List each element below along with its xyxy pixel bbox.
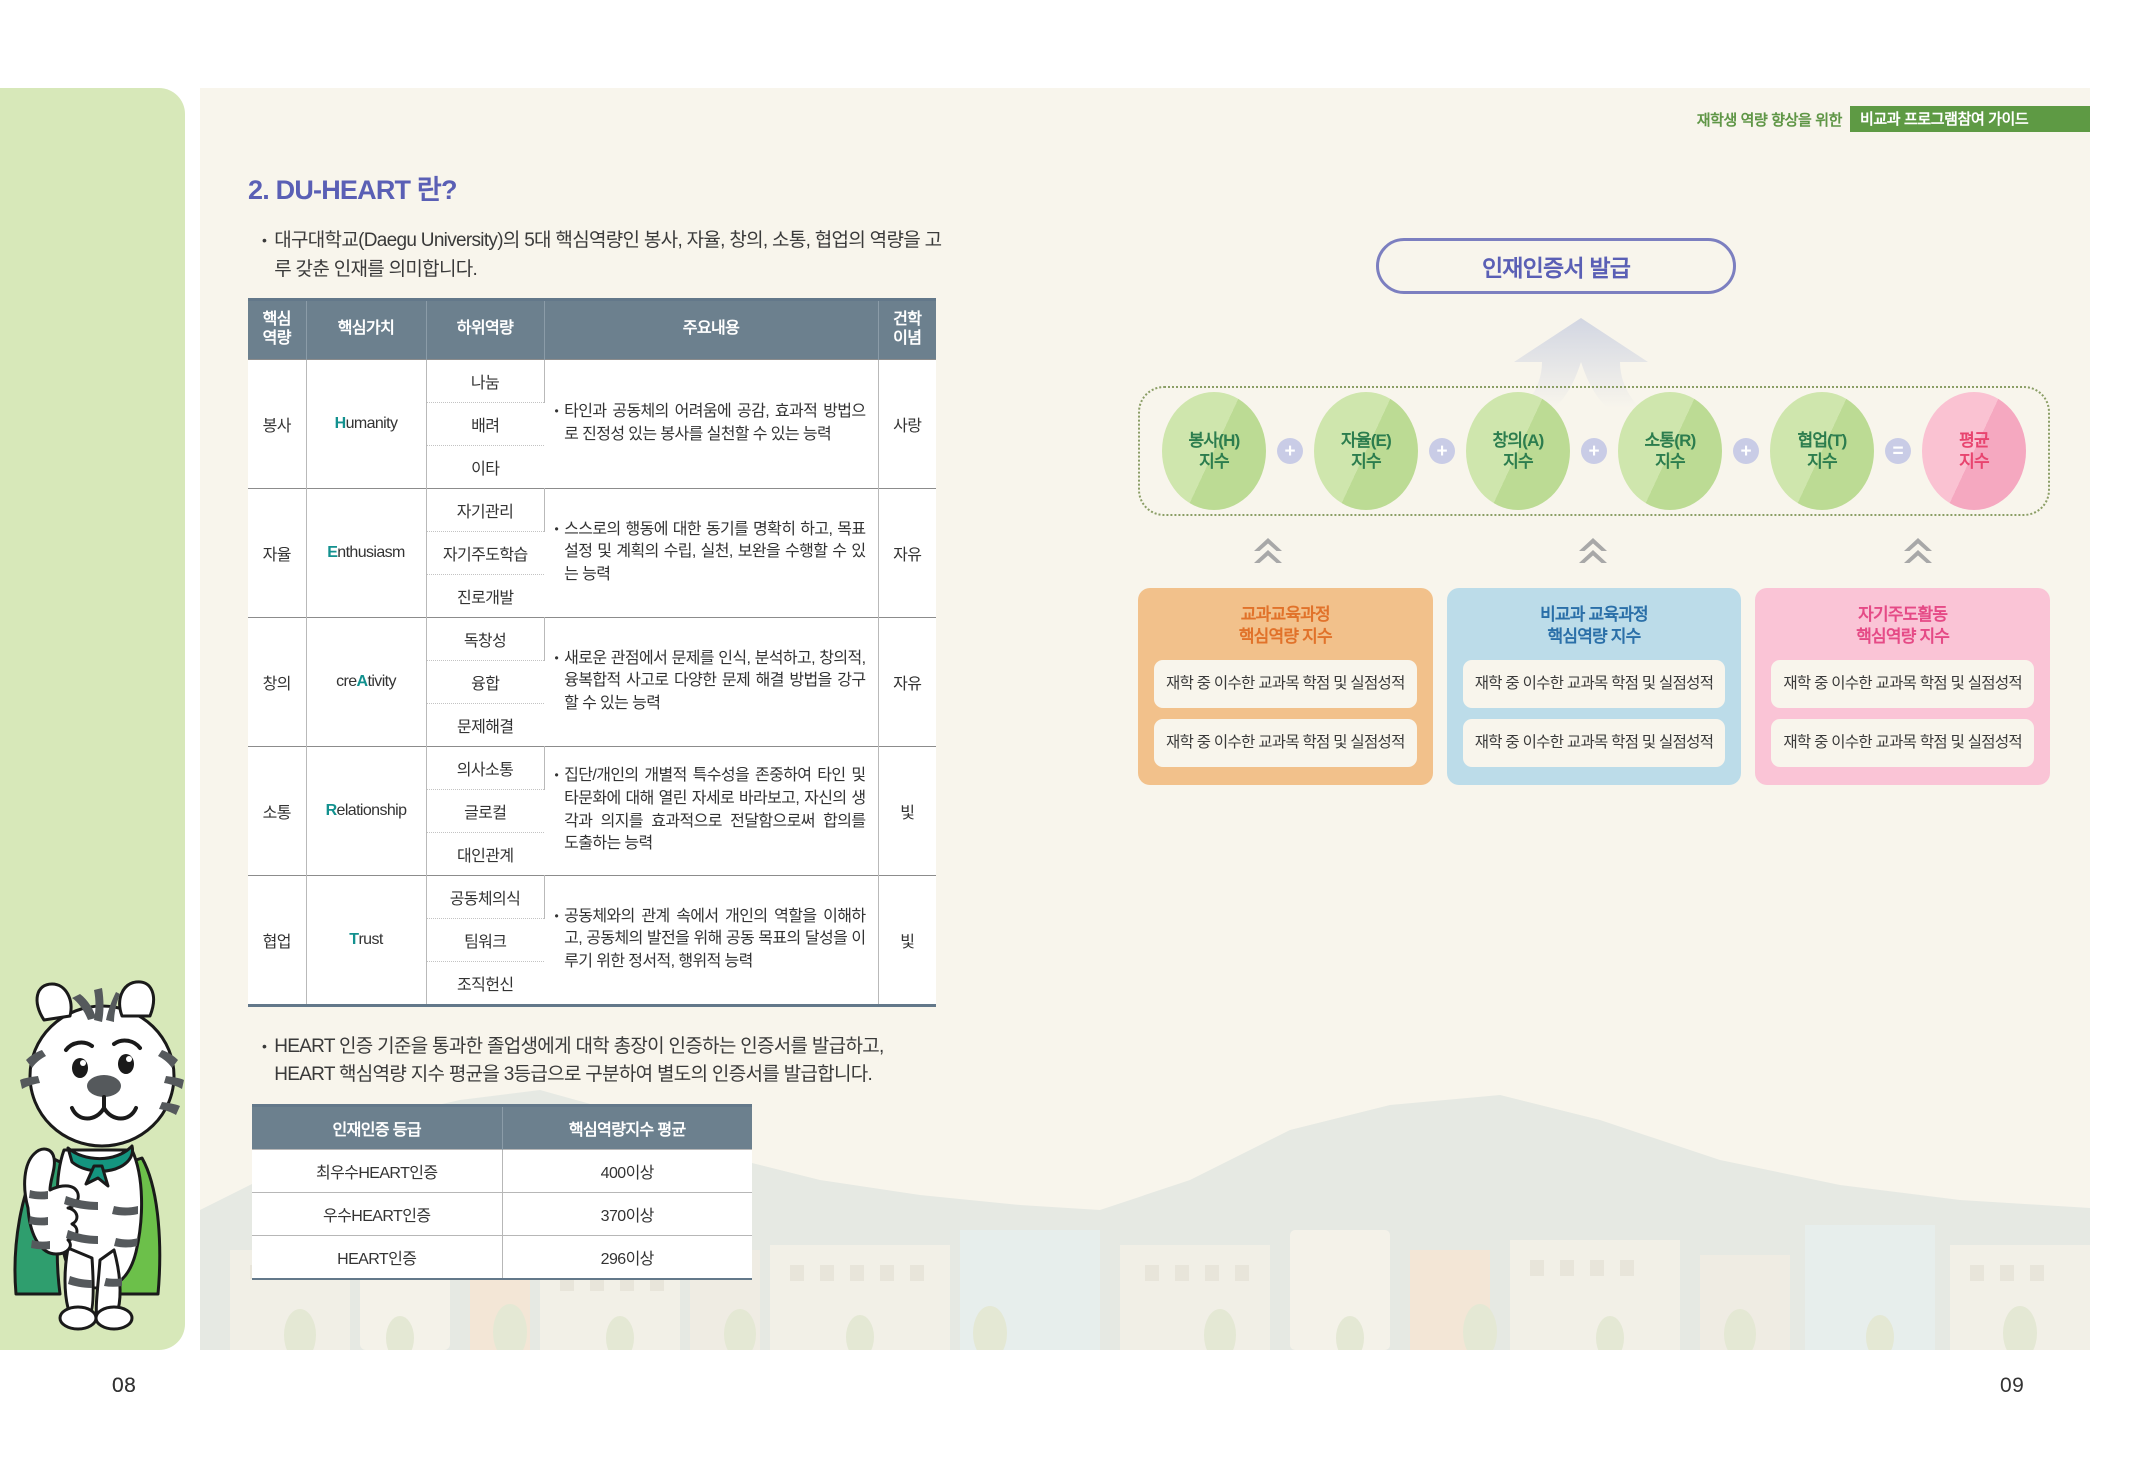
index-circle-line2: 지수 [1503, 451, 1533, 472]
th-core-competency-line2: 역량 [263, 330, 291, 347]
cell-core-value: creAtivity [306, 617, 426, 746]
cell-sub-competency: 공동체의식 [426, 875, 544, 918]
th-core-competency-line1: 핵심 [263, 311, 291, 328]
intro-bullet: • 대구대학교(Daegu University)의 5대 핵심역량인 봉사, … [248, 227, 948, 284]
bullet-dot-icon: • [555, 906, 559, 974]
source-index-boxes-row: 교과교육과정핵심역량 지수재학 중 이수한 교과목 학점 및 실점성적재학 중 … [1138, 588, 2050, 785]
cell-founding-ideal: 빛 [878, 875, 936, 1005]
th-core-competency: 핵심 역량 [248, 300, 306, 360]
source-index-card: 재학 중 이수한 교과목 학점 및 실점성적 [1463, 660, 1726, 708]
certificate-issuance-badge: 인재인증서 발급 [1376, 238, 1736, 294]
page-number-left-label: 08 [112, 1374, 136, 1398]
cell-sub-competency: 조직헌신 [426, 961, 544, 1005]
source-index-card: 재학 중 이수한 교과목 학점 및 실점성적 [1154, 719, 1417, 767]
plus-operator-icon: + [1429, 438, 1455, 464]
bullet-dot-icon: • [262, 227, 266, 284]
cell-founding-ideal: 빛 [878, 746, 936, 875]
cell-sub-competency: 독창성 [426, 617, 544, 660]
table-row: HEART인증296이상 [252, 1235, 752, 1279]
cell-grade: 최우수HEART인증 [252, 1149, 502, 1192]
double-chevron-up-icon [1251, 536, 1285, 566]
index-circle: 소통(R)지수 [1618, 392, 1722, 510]
th-core-value: 핵심가치 [306, 300, 426, 360]
th-founding-ideal: 건학 이념 [878, 300, 936, 360]
right-page: 재학생 역량 향상을 위한 비교과 프로그램참여 가이드 인재인증서 발급 봉사 [1100, 88, 2090, 1350]
table-row: 우수HEART인증370이상 [252, 1192, 752, 1235]
cell-sub-competency: 대인관계 [426, 832, 544, 875]
index-circle: 봉사(H)지수 [1162, 392, 1266, 510]
left-page-content: 2. DU-HEART 란? • 대구대학교(Daegu University)… [248, 168, 948, 1280]
cell-sub-competency: 배려 [426, 402, 544, 445]
header-banner-prefix: 재학생 역량 향상을 위한 [1697, 109, 1850, 130]
table-row: 봉사Humanity나눔•타인과 공동체의 어려움에 공감, 효과적 방법으로 … [248, 359, 936, 402]
double-chevron-up-icon [1576, 536, 1610, 566]
source-index-box-title: 비교과 교육과정핵심역량 지수 [1540, 604, 1648, 648]
source-index-box-title-line2: 핵심역량 지수 [1548, 627, 1641, 646]
th-grade: 인재인증 등급 [252, 1105, 502, 1149]
cell-core-competency: 자율 [248, 488, 306, 617]
table-row: 최우수HEART인증400이상 [252, 1149, 752, 1192]
index-circle-line1: 평균 [1959, 430, 1989, 451]
cell-grade: HEART인증 [252, 1235, 502, 1279]
th-founding-ideal-line2: 이념 [893, 330, 921, 347]
main-content-text: 타인과 공동체의 어려움에 공감, 효과적 방법으로 진정성 있는 봉사를 실천… [564, 401, 865, 446]
cell-core-competency: 창의 [248, 617, 306, 746]
core-value-initial: E [327, 544, 337, 561]
page-title: 2. DU-HEART 란? [248, 168, 948, 207]
index-circle-line1: 협업(T) [1798, 430, 1847, 451]
source-index-box: 비교과 교육과정핵심역량 지수재학 중 이수한 교과목 학점 및 실점성적재학 … [1447, 588, 1742, 785]
cert-bullet: • HEART 인증 기준을 통과한 졸업생에게 대학 총장이 인증하는 인증서… [248, 1033, 948, 1090]
index-circle-line1: 소통(R) [1645, 430, 1696, 451]
chevron-arrows-row [1138, 536, 2050, 580]
source-index-box: 교과교육과정핵심역량 지수재학 중 이수한 교과목 학점 및 실점성적재학 중 … [1138, 588, 1433, 785]
plus-operator-icon: + [1581, 438, 1607, 464]
source-index-card: 재학 중 이수한 교과목 학점 및 실점성적 [1771, 660, 2034, 708]
th-average: 핵심역량지수 평균 [502, 1105, 752, 1149]
cell-core-competency: 소통 [248, 746, 306, 875]
bullet-dot-icon: • [262, 1033, 266, 1090]
source-index-card: 재학 중 이수한 교과목 학점 및 실점성적 [1463, 719, 1726, 767]
table-row: 소통Relationship의사소통•집단/개인의 개별적 특수성을 존중하여 … [248, 746, 936, 789]
cell-main-content: •집단/개인의 개별적 특수성을 존중하여 타인 및 타문화에 대해 열린 자세… [544, 746, 878, 875]
index-circle-line2: 지수 [1199, 451, 1229, 472]
main-content-text: 새로운 관점에서 문제를 인식, 분석하고, 창의적, 융복합적 사고로 다양한… [564, 648, 865, 716]
bullet-dot-icon: • [555, 519, 559, 587]
grade-table-body: 최우수HEART인증400이상우수HEART인증370이상HEART인증296이… [252, 1149, 752, 1279]
cell-core-value: Trust [306, 875, 426, 1005]
cell-founding-ideal: 사랑 [878, 359, 936, 488]
header-banner: 재학생 역량 향상을 위한 비교과 프로그램참여 가이드 [1697, 106, 2090, 132]
index-circle: 평균지수 [1922, 392, 2026, 510]
cell-sub-competency: 의사소통 [426, 746, 544, 789]
core-value-initial: A [357, 673, 368, 690]
source-index-box-title: 자기주도활동핵심역량 지수 [1856, 604, 1949, 648]
core-value-initial: T [349, 931, 358, 948]
cell-core-competency: 봉사 [248, 359, 306, 488]
plus-operator-icon: + [1277, 438, 1303, 464]
cell-core-competency: 협업 [248, 875, 306, 1005]
bullet-dot-icon: • [555, 401, 559, 446]
grade-table-header-row: 인재인증 등급 핵심역량지수 평균 [252, 1105, 752, 1149]
table-row: 창의creAtivity독창성•새로운 관점에서 문제를 인식, 분석하고, 창… [248, 617, 936, 660]
index-circle-line1: 창의(A) [1493, 430, 1544, 451]
cell-sub-competency: 자기관리 [426, 488, 544, 531]
cell-average: 400이상 [502, 1149, 752, 1192]
bullet-dot-icon: • [555, 765, 559, 856]
competency-table-header-row: 핵심 역량 핵심가치 하위역량 주요내용 건학 이념 [248, 300, 936, 360]
cert-bullet-text: HEART 인증 기준을 통과한 졸업생에게 대학 총장이 인증하는 인증서를 … [274, 1033, 948, 1090]
source-index-box-title-line1: 비교과 교육과정 [1540, 605, 1648, 624]
th-main-content: 주요내용 [544, 300, 878, 360]
index-circle-line2: 지수 [1655, 451, 1685, 472]
competency-table-body: 봉사Humanity나눔•타인과 공동체의 어려움에 공감, 효과적 방법으로 … [248, 359, 936, 1005]
intro-bullet-text: 대구대학교(Daegu University)의 5대 핵심역량인 봉사, 자율… [274, 227, 948, 284]
core-value-initial: H [335, 415, 346, 432]
cell-sub-competency: 진로개발 [426, 574, 544, 617]
cell-sub-competency: 자기주도학습 [426, 531, 544, 574]
cell-core-value: Humanity [306, 359, 426, 488]
cell-sub-competency: 나눔 [426, 359, 544, 402]
source-index-box: 자기주도활동핵심역량 지수재학 중 이수한 교과목 학점 및 실점성적재학 중 … [1755, 588, 2050, 785]
header-banner-badge: 비교과 프로그램참여 가이드 [1850, 106, 2090, 132]
source-index-box-title-line1: 교과교육과정 [1241, 605, 1330, 624]
left-page: 2. DU-HEART 란? • 대구대학교(Daegu University)… [200, 88, 1100, 1350]
main-content-text: 집단/개인의 개별적 특수성을 존중하여 타인 및 타문화에 대해 열린 자세로… [564, 765, 865, 856]
source-index-box-title-line2: 핵심역량 지수 [1239, 627, 1332, 646]
cell-main-content: •타인과 공동체의 어려움에 공감, 효과적 방법으로 진정성 있는 봉사를 실… [544, 359, 878, 488]
competency-table: 핵심 역량 핵심가치 하위역량 주요내용 건학 이념 봉사Humanity나눔•… [248, 298, 936, 1007]
main-content-text: 공동체와의 관계 속에서 개인의 역할을 이해하고, 공동체의 발전을 위해 공… [564, 906, 865, 974]
page-spread: 2. DU-HEART 란? • 대구대학교(Daegu University)… [0, 0, 2154, 1474]
tiger-mascot-illustration [2, 958, 198, 1350]
cell-main-content: •새로운 관점에서 문제를 인식, 분석하고, 창의적, 융복합적 사고로 다양… [544, 617, 878, 746]
cell-main-content: •공동체와의 관계 속에서 개인의 역할을 이해하고, 공동체의 발전을 위해 … [544, 875, 878, 1005]
source-index-box-title-line1: 자기주도활동 [1858, 605, 1947, 624]
source-index-box-title: 교과교육과정핵심역량 지수 [1239, 604, 1332, 648]
source-index-card: 재학 중 이수한 교과목 학점 및 실점성적 [1771, 719, 2034, 767]
index-circle-line2: 지수 [1959, 451, 1989, 472]
cell-founding-ideal: 자유 [878, 617, 936, 746]
table-row: 자율Enthusiasm자기관리•스스로의 행동에 대한 동기를 명확히 하고,… [248, 488, 936, 531]
core-value-initial: R [326, 802, 337, 819]
page-number-right-label: 09 [2000, 1374, 2024, 1398]
cell-average: 370이상 [502, 1192, 752, 1235]
index-circle-line1: 자율(E) [1341, 430, 1391, 451]
equals-operator-icon: = [1885, 438, 1911, 464]
cell-sub-competency: 이타 [426, 445, 544, 488]
bullet-dot-icon: • [555, 648, 559, 716]
index-circle: 협업(T)지수 [1770, 392, 1874, 510]
cell-sub-competency: 글로컬 [426, 789, 544, 832]
source-index-box-title-line2: 핵심역량 지수 [1856, 627, 1949, 646]
cell-core-value: Enthusiasm [306, 488, 426, 617]
cell-sub-competency: 융합 [426, 660, 544, 703]
index-circle: 자율(E)지수 [1314, 392, 1418, 510]
cell-sub-competency: 문제해결 [426, 703, 544, 746]
cell-main-content: •스스로의 행동에 대한 동기를 명확히 하고, 목표 설정 및 계획의 수립,… [544, 488, 878, 617]
index-circles-row: 봉사(H)지수+자율(E)지수+창의(A)지수+소통(R)지수+협업(T)지수=… [1138, 386, 2050, 516]
index-circle-line2: 지수 [1351, 451, 1381, 472]
cell-grade: 우수HEART인증 [252, 1192, 502, 1235]
main-content-text: 스스로의 행동에 대한 동기를 명확히 하고, 목표 설정 및 계획의 수립, … [564, 519, 865, 587]
plus-operator-icon: + [1733, 438, 1759, 464]
index-circle-line1: 봉사(H) [1189, 430, 1240, 451]
cell-core-value: Relationship [306, 746, 426, 875]
source-index-card: 재학 중 이수한 교과목 학점 및 실점성적 [1154, 660, 1417, 708]
index-circle: 창의(A)지수 [1466, 392, 1570, 510]
index-circle-line2: 지수 [1807, 451, 1837, 472]
double-chevron-up-icon [1901, 536, 1935, 566]
table-row: 협업Trust공동체의식•공동체와의 관계 속에서 개인의 역할을 이해하고, … [248, 875, 936, 918]
cell-sub-competency: 팀워크 [426, 918, 544, 961]
th-sub-competency: 하위역량 [426, 300, 544, 360]
heart-index-diagram: 인재인증서 발급 봉사(H)지수+자율(E)지수+창의(A)지수+소통(R)지수… [1100, 88, 2090, 1350]
th-founding-ideal-line1: 건학 [893, 311, 921, 328]
grade-table: 인재인증 등급 핵심역량지수 평균 최우수HEART인증400이상우수HEART… [252, 1104, 752, 1280]
cell-founding-ideal: 자유 [878, 488, 936, 617]
cell-average: 296이상 [502, 1235, 752, 1279]
